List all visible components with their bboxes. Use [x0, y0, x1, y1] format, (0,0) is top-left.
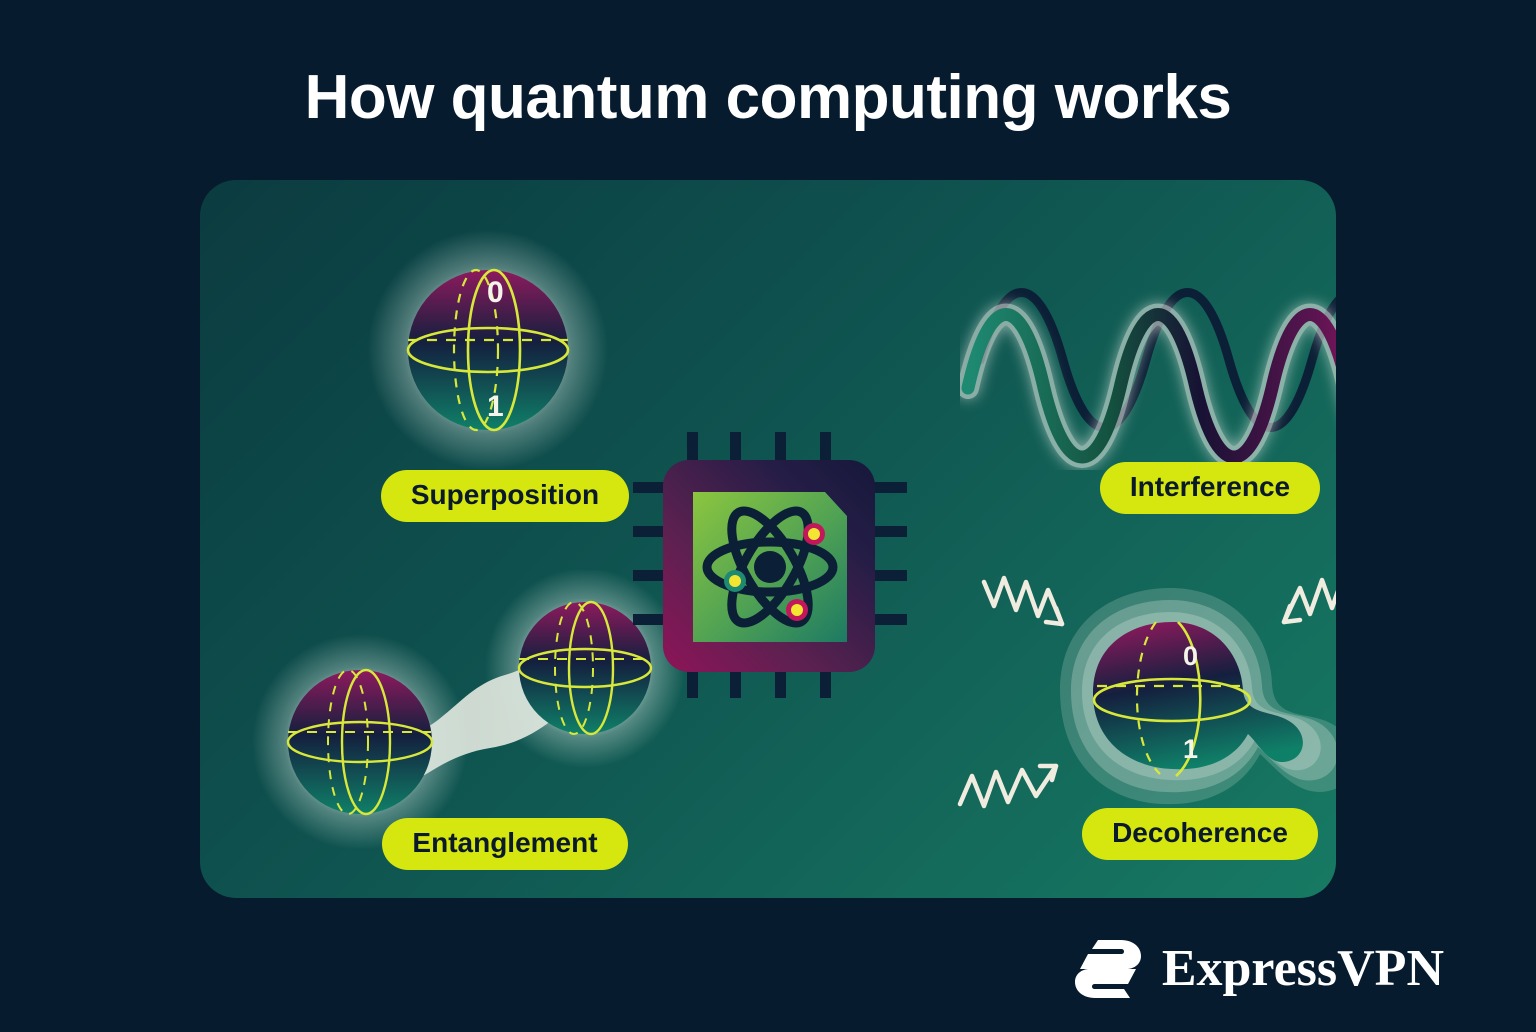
label-decoherence[interactable]: Decoherence	[1082, 808, 1318, 860]
decoherence-illustration: 0 1	[940, 560, 1336, 845]
label-entanglement[interactable]: Entanglement	[382, 818, 627, 870]
concept-decoherence[interactable]: 0 1 Decoherence	[940, 560, 1336, 890]
diagram-panel: 0 1 Superposition	[200, 180, 1336, 898]
state-label-one: 1	[487, 390, 504, 423]
expressvpn-e-logomark	[1072, 938, 1144, 1000]
interference-label-wrap: Interference	[960, 462, 1336, 514]
state-label-zero: 0	[487, 276, 504, 309]
atom-nucleus	[754, 551, 786, 583]
entanglement-label-wrap: Entanglement	[240, 818, 770, 870]
brand-logo[interactable]: ExpressVPN	[1072, 938, 1444, 1000]
quantum-chip[interactable]	[625, 420, 915, 710]
quantum-chip-icon	[625, 420, 915, 710]
infographic-canvas: How quantum computing works	[0, 0, 1536, 1032]
concept-interference[interactable]: Interference	[960, 240, 1336, 540]
label-interference[interactable]: Interference	[1100, 462, 1320, 514]
wave-interference-icon	[960, 240, 1336, 470]
page-title: How quantum computing works	[0, 62, 1536, 133]
interference-illustration	[960, 240, 1336, 475]
decoherence-label-wrap: Decoherence	[940, 808, 1336, 860]
decohering-sphere-icon: 0 1	[940, 560, 1336, 840]
state-label-one: 1	[1183, 734, 1198, 764]
brand-name: ExpressVPN	[1162, 943, 1444, 995]
label-superposition[interactable]: Superposition	[381, 470, 629, 522]
state-label-zero: 0	[1183, 641, 1198, 671]
